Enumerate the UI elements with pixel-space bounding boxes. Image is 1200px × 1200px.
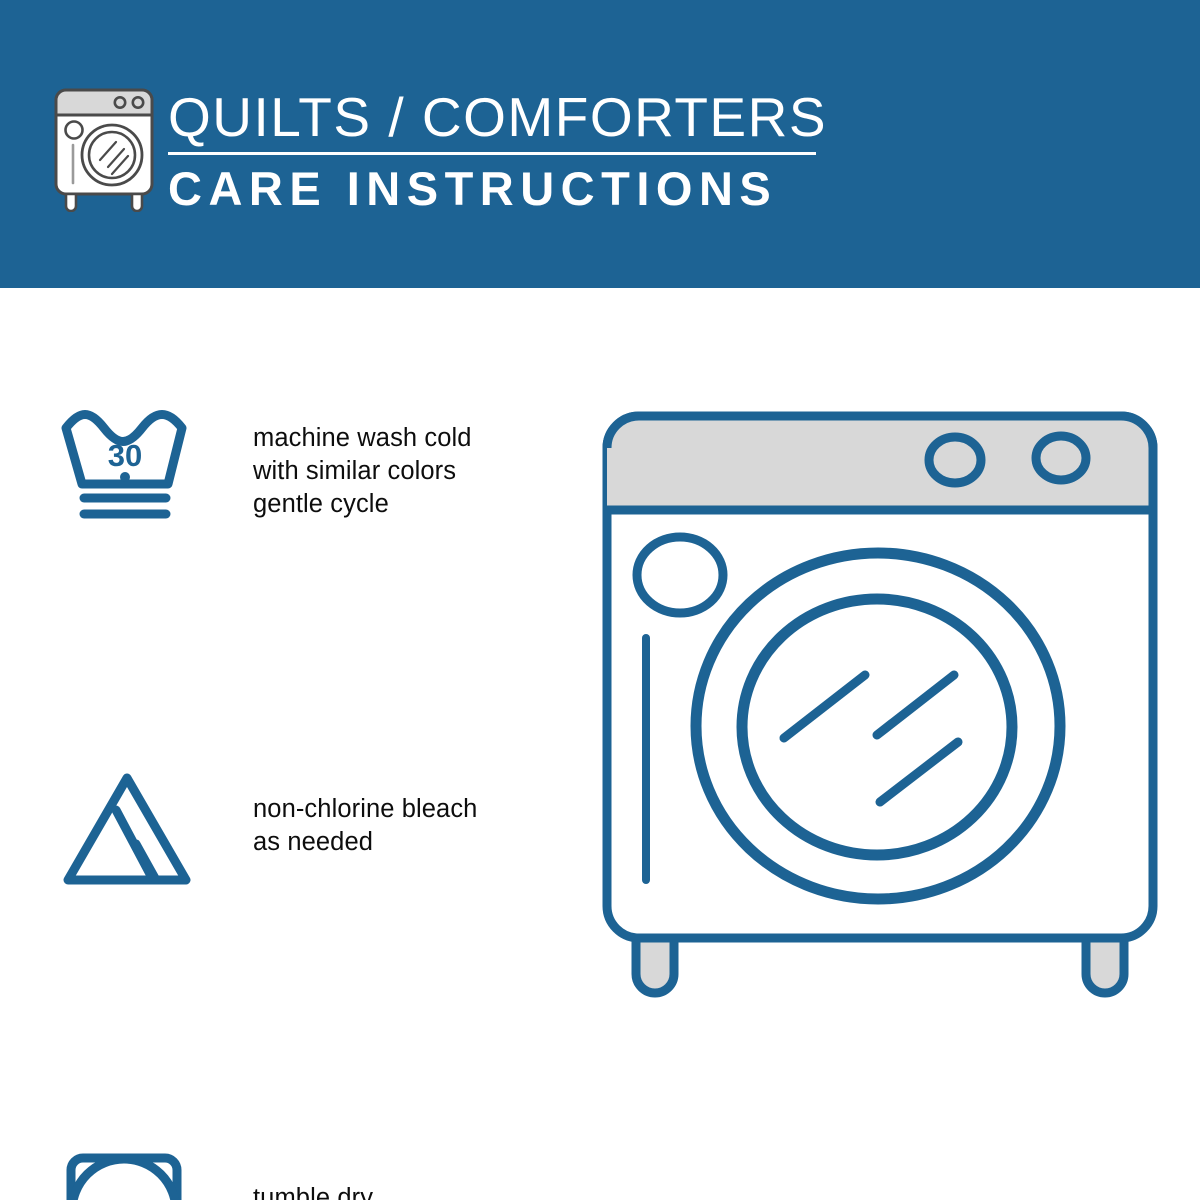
care-text-tumble-dry: tumble dry low heat: [253, 1182, 373, 1200]
washer-leg-left: [636, 938, 674, 993]
header-band: QUILTS / COMFORTERS CARE INSTRUCTIONS: [0, 0, 1200, 288]
care-row-iron: iron if needed low heat: [0, 964, 520, 1152]
care-text-machine-wash: machine wash cold with similar colors ge…: [253, 422, 472, 521]
washer-leg-right: [1086, 938, 1124, 993]
title-divider: [168, 152, 816, 155]
header-title-block: QUILTS / COMFORTERS CARE INSTRUCTIONS: [168, 86, 828, 217]
care-text-line: with similar colors: [253, 455, 472, 488]
care-instructions-page: QUILTS / COMFORTERS CARE INSTRUCTIONS 30: [0, 0, 1200, 1200]
care-text-line: gentle cycle: [253, 488, 472, 521]
care-text-line: machine wash cold: [253, 422, 472, 455]
care-row-bleach: non-chlorine bleach as needed: [0, 588, 520, 776]
care-text-line: tumble dry: [253, 1182, 373, 1200]
care-row-machine-wash: 30 machine wash cold with similar colors…: [0, 400, 520, 588]
care-instruction-list: 30 machine wash cold with similar colors…: [0, 400, 520, 1152]
page-title-primary: QUILTS / COMFORTERS: [168, 86, 828, 148]
wash-temperature-label: 30: [108, 438, 142, 473]
care-row-tumble-dry: tumble dry low heat: [0, 776, 520, 964]
machine-wash-30-gentle-symbol: 30: [60, 406, 195, 524]
tumble-dry-low-heat-symbol: [62, 1152, 197, 1200]
washer-control-panel: [607, 416, 1153, 510]
page-title-secondary: CARE INSTRUCTIONS: [168, 161, 828, 217]
washing-machine-illustration: [580, 390, 1180, 1130]
washing-machine-icon: [48, 82, 160, 212]
